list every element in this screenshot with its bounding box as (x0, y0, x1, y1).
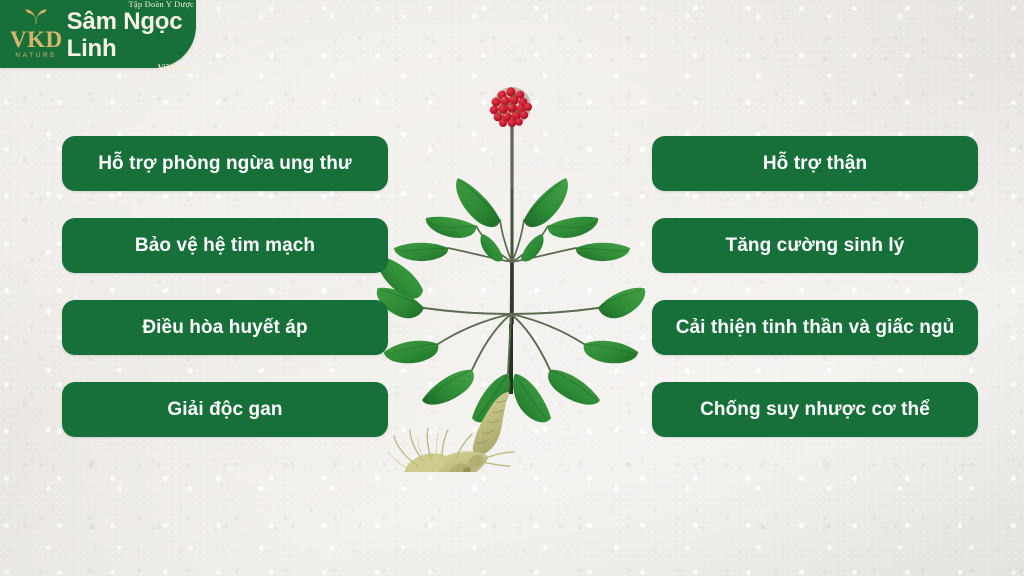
brand-line-country: Việt Nam (158, 63, 192, 72)
benefit-pill[interactable]: Chống suy nhược cơ thể (652, 382, 978, 437)
benefit-pill[interactable]: Giải độc gan (62, 382, 388, 437)
ginseng-plant-illustration (372, 62, 652, 472)
berry-cluster (490, 87, 532, 127)
brand-initials: VKD (10, 28, 63, 51)
brand-header[interactable]: VKD NATURE Tập Đoàn Y Dược Sâm Ngọc Linh… (0, 0, 196, 68)
poster-canvas: VKD NATURE Tập Đoàn Y Dược Sâm Ngọc Linh… (0, 0, 1024, 576)
brand-line-name: Sâm Ngọc Linh (67, 9, 196, 63)
benefit-pill[interactable]: Tăng cường sinh lý (652, 218, 978, 273)
brand-nature-label: NATURE (15, 53, 57, 60)
brand-wordmark: Tập Đoàn Y Dược Sâm Ngọc Linh Việt Nam (67, 0, 196, 72)
sprout-icon (23, 9, 49, 29)
benefit-pill[interactable]: Bảo vệ hệ tim mạch (62, 218, 388, 273)
benefit-pill[interactable]: Điều hòa huyết áp (62, 300, 388, 355)
benefit-pill[interactable]: Hỗ trợ thận (652, 136, 978, 191)
benefits-column-left: Hỗ trợ phòng ngừa ung thư Bảo vệ hệ tim … (62, 136, 388, 437)
ginseng-root (384, 392, 514, 472)
benefit-pill[interactable]: Cải thiện tinh thần và giấc ngủ (652, 300, 978, 355)
benefits-column-right: Hỗ trợ thận Tăng cường sinh lý Cải thiện… (652, 136, 978, 437)
brand-logo-mark: VKD NATURE (10, 3, 63, 65)
benefit-pill[interactable]: Hỗ trợ phòng ngừa ung thư (62, 136, 388, 191)
